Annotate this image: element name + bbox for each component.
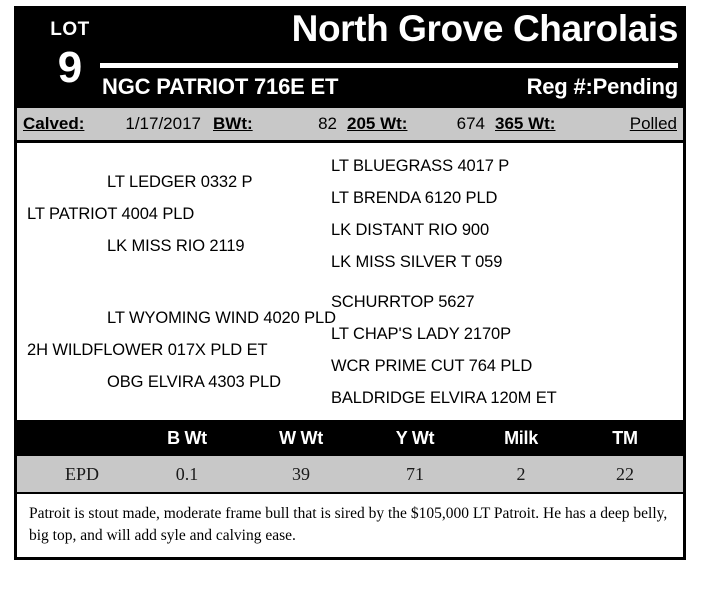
pedigree-sire-sire-dam: LT BRENDA 6120 PLD xyxy=(331,189,497,208)
weaning-weight-value: 674 xyxy=(409,114,485,134)
lot-number: 9 xyxy=(34,46,106,90)
pedigree-sire-dam-sire: LK DISTANT RIO 900 xyxy=(331,221,489,240)
epd-row-label: EPD xyxy=(27,456,137,492)
birth-weight-value: 82 xyxy=(261,114,337,134)
polled-status: Polled xyxy=(630,114,677,134)
epd-value-row: EPD 0.1 39 71 2 22 xyxy=(14,456,686,492)
pedigree-dam-dam-dam: BALDRIDGE ELVIRA 120M ET xyxy=(331,389,557,408)
epd-col-tm: TM xyxy=(565,420,685,456)
registration-number: Reg #:Pending xyxy=(527,74,678,100)
lot-label: LOT xyxy=(34,20,106,39)
epd-value-wwt: 39 xyxy=(241,456,361,492)
animal-name: NGC PATRIOT 716E ET xyxy=(102,74,338,100)
calved-label: Calved: xyxy=(23,114,84,134)
yearling-weight-label: 365 Wt: xyxy=(495,114,555,134)
pedigree-dam-sire-dam: LT CHAP'S LADY 2170P xyxy=(331,325,511,344)
pedigree-sire: LT PATRIOT 4004 PLD xyxy=(27,205,194,224)
description-box: Patroit is stout made, moderate frame bu… xyxy=(14,492,686,560)
pedigree-sire-dam: LK MISS RIO 2119 xyxy=(107,237,245,256)
ranch-name: North Grove Charolais xyxy=(292,10,678,49)
pedigree-dam-sire: LT WYOMING WIND 4020 PLD xyxy=(107,309,336,328)
epd-col-bwt: B Wt xyxy=(127,420,247,456)
header-divider xyxy=(100,63,678,68)
epd-header-row: B Wt W Wt Y Wt Milk TM xyxy=(14,420,686,456)
pedigree-sire-dam-dam: LK MISS SILVER T 059 xyxy=(331,253,502,272)
weaning-weight-label: 205 Wt: xyxy=(347,114,407,134)
epd-value-bwt: 0.1 xyxy=(127,456,247,492)
pedigree-dam-dam: OBG ELVIRA 4303 PLD xyxy=(107,373,281,392)
stats-bar: Calved: 1/17/2017 BWt: 82 205 Wt: 674 36… xyxy=(14,108,686,140)
description-text: Patroit is stout made, moderate frame bu… xyxy=(29,503,671,548)
pedigree-dam-sire-sire: SCHURRTOP 5627 xyxy=(331,293,475,312)
epd-value-tm: 22 xyxy=(565,456,685,492)
pedigree-dam-dam-sire: WCR PRIME CUT 764 PLD xyxy=(331,357,532,376)
epd-value-milk: 2 xyxy=(461,456,581,492)
pedigree-sire-sire-sire: LT BLUEGRASS 4017 P xyxy=(331,157,509,176)
birth-weight-label: BWt: xyxy=(213,114,253,134)
epd-col-wwt: W Wt xyxy=(241,420,361,456)
lot-card: LOT 9 North Grove Charolais NGC PATRIOT … xyxy=(14,6,686,560)
pedigree-chart: LT LEDGER 0332 P LT PATRIOT 4004 PLD LK … xyxy=(14,140,686,420)
card-header: LOT 9 North Grove Charolais NGC PATRIOT … xyxy=(14,6,686,108)
pedigree-sire-sire: LT LEDGER 0332 P xyxy=(107,173,252,192)
epd-col-ywt: Y Wt xyxy=(355,420,475,456)
epd-value-ywt: 71 xyxy=(355,456,475,492)
pedigree-dam: 2H WILDFLOWER 017X PLD ET xyxy=(27,341,267,360)
calved-value: 1/17/2017 xyxy=(113,114,201,134)
epd-col-milk: Milk xyxy=(461,420,581,456)
